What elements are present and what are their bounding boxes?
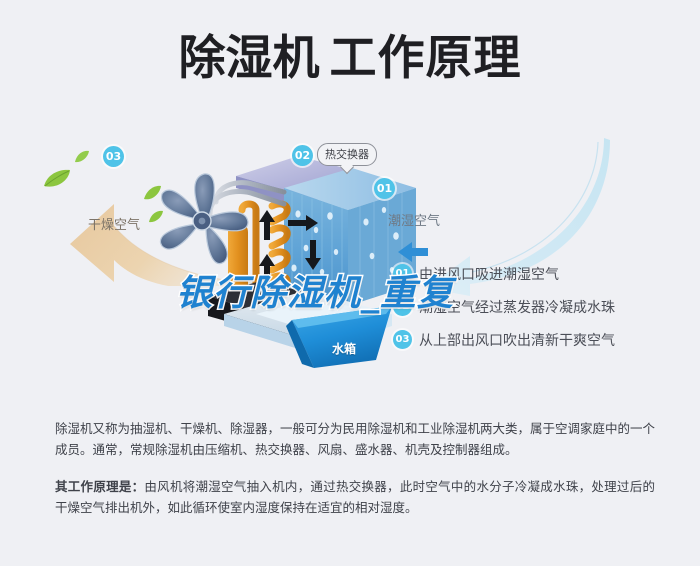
fan-blades-icon [150, 168, 254, 276]
badge-heat-exchanger: 02 [292, 145, 313, 166]
dry-air-label: 干燥空气 [88, 214, 140, 233]
infographic-page: 除湿机工作原理 [0, 0, 700, 566]
water-tank-label: 水箱 [332, 340, 356, 357]
page-title: 除湿机工作原理 [0, 32, 700, 86]
paragraph-2-lead: 其工作原理是： [55, 479, 144, 494]
badge-moist-air: 01 [374, 178, 395, 199]
paragraph-2-rest: 由风机将潮湿空气抽入机内，通过热交换器，此时空气中的水分子冷凝成水珠，处理过后的… [55, 479, 655, 515]
legend-badge-03: 03 [393, 330, 412, 349]
legend-item: 03 从上部出风口吹出清新干爽空气 [393, 323, 693, 356]
watermark: 银行除湿机_重复 [176, 264, 454, 316]
leaf-icon [74, 150, 90, 164]
title-part-2: 工作原理 [330, 31, 522, 86]
moist-air-label: 潮湿空气 [388, 210, 440, 229]
badge-dry-air: 03 [103, 146, 124, 167]
heat-exchanger-callout: 热交换器 [317, 143, 377, 166]
article-body: 除湿机又称为抽湿机、干燥机、除湿器，一般可分为民用除湿机和工业除湿机两大类，属于… [55, 418, 655, 534]
legend-text-03: 从上部出风口吹出清新干爽空气 [419, 330, 615, 350]
title-part-1: 除湿机 [179, 31, 320, 86]
leaf-icon [42, 168, 72, 190]
paragraph-2: 其工作原理是：由风机将潮湿空气抽入机内，通过热交换器，此时空气中的水分子冷凝成水… [55, 476, 655, 518]
paragraph-1: 除湿机又称为抽湿机、干燥机、除湿器，一般可分为民用除湿机和工业除湿机两大类，属于… [55, 418, 655, 460]
